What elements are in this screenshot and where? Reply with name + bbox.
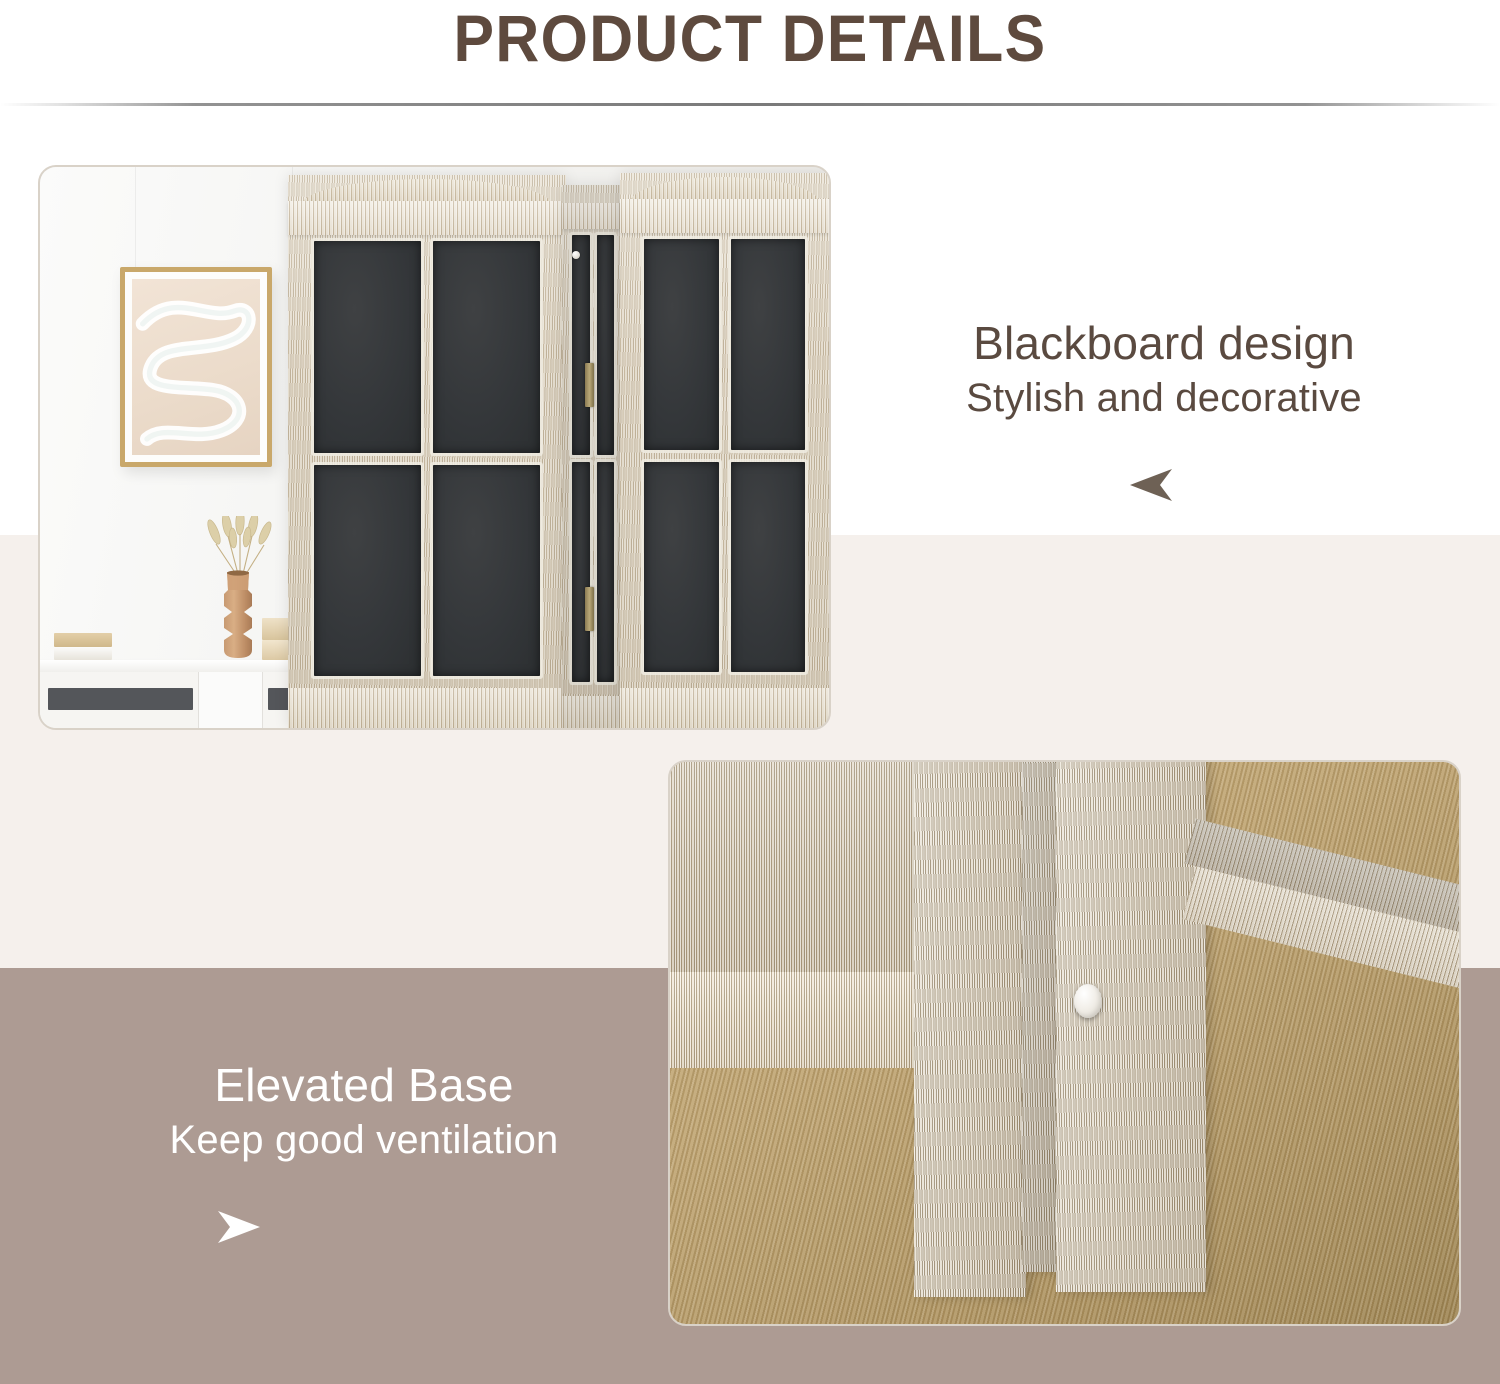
arrow-container xyxy=(884,468,1444,502)
panel-rail-bottom xyxy=(562,696,624,728)
room-scene-photo xyxy=(38,165,831,730)
divider-panel xyxy=(288,175,566,728)
chalkboard-pane xyxy=(731,239,806,450)
framed-wall-art xyxy=(120,267,272,467)
page-title: PRODUCT DETAILS xyxy=(60,2,1440,76)
chalkboard-pane xyxy=(314,465,421,677)
callout-blackboard-design: Blackboard design Stylish and decorative xyxy=(884,318,1444,502)
chalkboard-pane xyxy=(433,465,540,677)
abstract-squiggle-icon xyxy=(132,279,260,455)
panel-rail-top xyxy=(562,203,624,229)
panel-rail-top xyxy=(620,199,829,233)
chalkboard-grid xyxy=(314,241,540,676)
callout-elevated-base: Elevated Base Keep good ventilation xyxy=(84,1060,644,1244)
chalkboard-pane xyxy=(314,241,421,453)
art-canvas xyxy=(132,279,260,455)
panel-rail-top xyxy=(288,201,566,235)
divider-panel xyxy=(562,185,624,728)
arrow-container xyxy=(84,1210,644,1244)
chalkboard-pane xyxy=(731,462,806,673)
callout-title: Blackboard design xyxy=(884,318,1444,370)
console-drawer xyxy=(48,688,193,710)
wood-slab-upper xyxy=(670,762,928,990)
chalkboard-pane xyxy=(572,462,590,682)
rear-leg xyxy=(1056,760,1206,1292)
panel-rail-bottom xyxy=(620,688,829,728)
chalkboard-grid xyxy=(644,239,805,672)
folding-room-divider xyxy=(288,167,829,728)
hinge-pin-icon xyxy=(572,251,580,259)
wood-rail-lower xyxy=(670,972,928,1068)
pampas-grass-icon xyxy=(200,516,280,578)
front-leg xyxy=(914,760,1026,1297)
arrow-left-icon xyxy=(1126,468,1178,502)
callout-subtitle: Keep good ventilation xyxy=(84,1114,644,1166)
arrow-right-icon xyxy=(212,1210,264,1244)
divider-panel xyxy=(620,173,829,728)
book xyxy=(54,633,112,647)
chalkboard-pane xyxy=(644,462,719,673)
brass-hinge-icon xyxy=(585,363,594,407)
chalkboard-pane xyxy=(644,239,719,450)
base-closeup-photo xyxy=(668,760,1461,1326)
callout-subtitle: Stylish and decorative xyxy=(884,372,1444,424)
chalkboard-pane xyxy=(597,235,615,455)
art-mat xyxy=(125,272,267,462)
base-closeup-scene xyxy=(670,762,1459,1324)
console-door xyxy=(198,672,263,728)
book xyxy=(54,645,112,660)
chalkboard-pane xyxy=(433,241,540,453)
brass-hinge-icon xyxy=(585,587,594,631)
title-divider xyxy=(0,103,1500,106)
screw-cap-icon xyxy=(1074,984,1102,1018)
chalkboard-pane xyxy=(572,235,590,455)
product-details-infographic: PRODUCT DETAILS xyxy=(0,0,1500,1384)
callout-title: Elevated Base xyxy=(84,1060,644,1112)
stacked-books xyxy=(54,632,112,660)
room-scene xyxy=(40,167,829,728)
chalkboard-pane xyxy=(597,462,615,682)
panel-rail-bottom xyxy=(288,688,566,728)
divider-leg xyxy=(1022,760,1058,1272)
terracotta-vase-icon xyxy=(218,570,258,660)
